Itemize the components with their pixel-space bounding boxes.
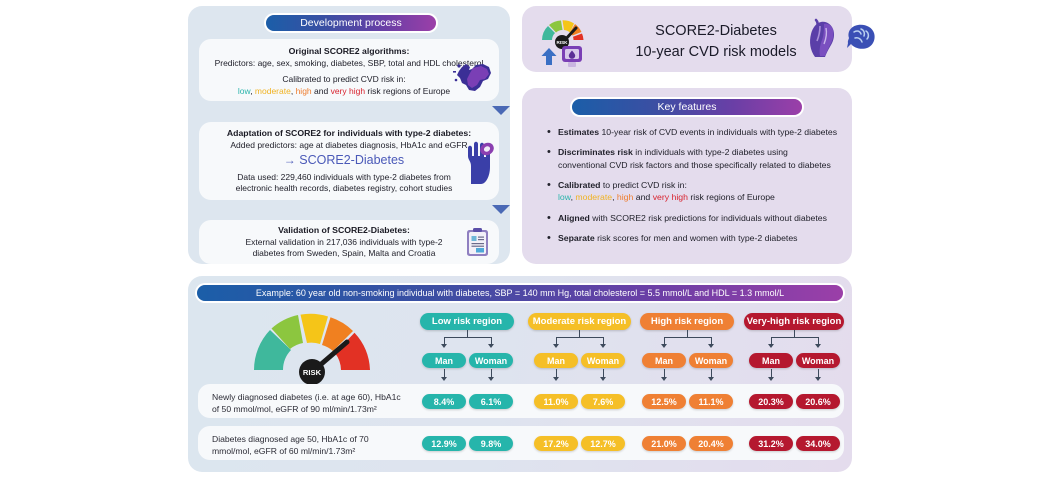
value-r1-low-woman: 6.1% xyxy=(469,394,513,409)
brand-arrow-icon: → xyxy=(284,153,296,167)
feature-3-bold: Calibrated xyxy=(558,180,600,190)
connector-arrow-right xyxy=(708,344,714,348)
step1-risk-regions: low, moderate, high and very high risk r… xyxy=(199,86,489,96)
title-line-2: 10-year CVD risk models xyxy=(626,42,806,63)
step3-line2: External validation in 217,036 individua… xyxy=(199,237,489,247)
region-pill-moderate[interactable]: Moderate risk region xyxy=(528,313,631,330)
title-line-1: SCORE2-Diabetes xyxy=(626,21,806,42)
sep4: risk regions of Europe xyxy=(365,86,450,96)
risk-very-high-text: very high xyxy=(331,86,366,96)
sex-pill-low-woman[interactable]: Woman xyxy=(469,353,513,368)
list-item: Separate risk scores for men and women w… xyxy=(546,232,838,244)
value-r2-high-woman: 20.4% xyxy=(689,436,733,451)
list-item: Estimates 10-year risk of CVD events in … xyxy=(546,126,838,138)
sex-pill-very-high-man[interactable]: Man xyxy=(749,353,793,368)
sex-pill-moderate-man[interactable]: Man xyxy=(534,353,578,368)
row-2-label-line-1: Diabetes diagnosed age 50, HbA1c of 70 xyxy=(212,433,432,445)
step2-brand-line: → SCORE2-Diabetes xyxy=(199,153,489,167)
connector-bar xyxy=(444,337,491,338)
value-r1-high-man: 12.5% xyxy=(642,394,686,409)
step3-line3: diabetes from Sweden, Spain, Malta and C… xyxy=(199,248,489,258)
heart-icon xyxy=(806,18,840,58)
value-r1-very-high-woman: 20.6% xyxy=(796,394,840,409)
connector-stem xyxy=(579,330,580,337)
kf-risk-tail: risk regions of Europe xyxy=(688,192,775,202)
feature-1-rest: 10-year risk of CVD events in individual… xyxy=(599,127,837,137)
row-1-label-line-2: of 50 mmol/mol, eGFR of 90 ml/min/1.73m² xyxy=(212,403,432,415)
step-original-score2-card: Original SCORE2 algorithms: Predictors: … xyxy=(199,39,499,101)
region-pill-low[interactable]: Low risk region xyxy=(420,313,514,330)
connector-arrow-left xyxy=(768,344,774,348)
connector-arrow-left xyxy=(553,344,559,348)
sex-drop-arrow xyxy=(600,377,606,381)
list-item: Aligned with SCORE2 risk predictions for… xyxy=(546,212,838,224)
feature-4-rest: with SCORE2 risk predictions for individ… xyxy=(590,213,827,223)
connector-stem xyxy=(467,330,468,337)
sex-pill-high-woman[interactable]: Woman xyxy=(689,353,733,368)
brain-icon xyxy=(842,22,880,54)
region-pill-very-high[interactable]: Very-high risk region xyxy=(744,313,844,330)
kf-risk-low: low xyxy=(558,192,571,202)
feature-1-bold: Estimates xyxy=(558,127,599,137)
step-validation-card: Validation of SCORE2-Diabetes: External … xyxy=(199,220,499,264)
sex-drop-arrow xyxy=(553,377,559,381)
value-r2-very-high-man: 31.2% xyxy=(749,436,793,451)
sex-pill-low-man[interactable]: Man xyxy=(422,353,466,368)
sex-drop-arrow xyxy=(815,377,821,381)
table-row: Newly diagnosed diabetes (i.e. at age 60… xyxy=(198,384,844,418)
connector-bar xyxy=(771,337,818,338)
sep3: and xyxy=(312,86,331,96)
feature-2-bold: Discriminates risk xyxy=(558,147,633,157)
value-r2-low-woman: 9.8% xyxy=(469,436,513,451)
page-title: SCORE2-Diabetes 10-year CVD risk models xyxy=(626,21,806,63)
list-item: Discriminates risk in individuals with t… xyxy=(546,146,838,171)
value-r2-low-man: 12.9% xyxy=(422,436,466,451)
score2-diabetes-brand: SCORE2-Diabetes xyxy=(299,153,404,167)
infographic-root: Development process Original SCORE2 algo… xyxy=(0,0,1040,478)
risk-moderate-text: moderate xyxy=(255,86,291,96)
feature-5-rest: risk scores for men and women with type-… xyxy=(595,233,798,243)
kf-risk-very-high: very high xyxy=(653,192,688,202)
example-banner: Example: 60 year old non-smoking individ… xyxy=(197,285,843,301)
europe-map-icon xyxy=(453,61,493,95)
risk-low-text: low xyxy=(238,86,250,96)
example-panel: Example: 60 year old non-smoking individ… xyxy=(188,276,852,472)
connector-bar xyxy=(556,337,603,338)
step-adaptation-card: Adaptation of SCORE2 for individuals wit… xyxy=(199,122,499,200)
list-item: Calibrated to predict CVD risk in: low, … xyxy=(546,179,838,204)
feature-3-rest: to predict CVD risk in: xyxy=(600,180,686,190)
sex-pill-moderate-woman[interactable]: Woman xyxy=(581,353,625,368)
development-process-panel: Development process Original SCORE2 algo… xyxy=(188,6,510,264)
step2-data-used-1: Data used: 229,460 individuals with type… xyxy=(199,172,489,182)
row-1-label: Newly diagnosed diabetes (i.e. at age 60… xyxy=(212,391,432,416)
value-r2-moderate-woman: 12.7% xyxy=(581,436,625,451)
sex-drop-arrow xyxy=(708,377,714,381)
feature-4-bold: Aligned xyxy=(558,213,590,223)
feature-5-bold: Separate xyxy=(558,233,595,243)
value-r1-moderate-man: 11.0% xyxy=(534,394,578,409)
arrow-step1-to-step2 xyxy=(492,106,510,115)
value-r1-low-man: 8.4% xyxy=(422,394,466,409)
connector-arrow-left xyxy=(661,344,667,348)
step1-title: Original SCORE2 algorithms: xyxy=(199,46,499,56)
region-pill-high[interactable]: High risk region xyxy=(640,313,734,330)
value-r2-moderate-man: 17.2% xyxy=(534,436,578,451)
sex-pill-very-high-woman[interactable]: Woman xyxy=(796,353,840,368)
kf-risk-high: high xyxy=(617,192,633,202)
key-features-header: Key features xyxy=(572,99,802,115)
kf-risk-moderate: moderate xyxy=(575,192,612,202)
connector-stem xyxy=(687,330,688,337)
risk-high-text: high xyxy=(296,86,312,96)
gauge-risk-label: RISK xyxy=(303,368,322,377)
connector-arrow-right xyxy=(600,344,606,348)
connector-arrow-right xyxy=(815,344,821,348)
title-panel: RISK SCORE2-Diabetes 10-year CVD risk mo… xyxy=(522,6,852,72)
value-r2-very-high-woman: 34.0% xyxy=(796,436,840,451)
example-risk-gauge: RISK xyxy=(250,312,374,388)
step2-added-predictors: Added predictors: age at diabetes diagno… xyxy=(199,140,499,150)
development-process-header: Development process xyxy=(266,15,436,31)
risk-gauge-icon: RISK xyxy=(536,12,598,67)
connector-arrow-right xyxy=(488,344,494,348)
step3-title: Validation of SCORE2-Diabetes: xyxy=(199,225,489,235)
sex-drop-arrow xyxy=(441,377,447,381)
value-r2-high-man: 21.0% xyxy=(642,436,686,451)
key-features-panel: Key features Estimates 10-year risk of C… xyxy=(522,88,852,264)
value-r1-high-woman: 11.1% xyxy=(689,394,733,409)
key-features-list: Estimates 10-year risk of CVD events in … xyxy=(546,126,838,252)
svg-text:RISK: RISK xyxy=(557,40,569,45)
value-r1-moderate-woman: 7.6% xyxy=(581,394,625,409)
step2-title: Adaptation of SCORE2 for individuals wit… xyxy=(199,128,499,138)
sex-drop-arrow xyxy=(661,377,667,381)
clipboard-icon xyxy=(465,227,491,257)
row-1-label-line-1: Newly diagnosed diabetes (i.e. at age 60… xyxy=(212,391,432,403)
arrow-step2-to-step3 xyxy=(492,205,510,214)
step2-data-used-2: electronic health records, diabetes regi… xyxy=(199,183,489,193)
hand-glucose-meter-icon xyxy=(459,140,495,184)
connector-stem xyxy=(794,330,795,337)
value-r1-very-high-man: 20.3% xyxy=(749,394,793,409)
connector-bar xyxy=(664,337,711,338)
step1-calibrated: Calibrated to predict CVD risk in: xyxy=(199,74,489,84)
sex-drop-arrow xyxy=(488,377,494,381)
row-2-label: Diabetes diagnosed age 50, HbA1c of 70 m… xyxy=(212,433,432,458)
row-2-label-line-2: mmol/mol, eGFR of 60 ml/min/1.73m² xyxy=(212,445,432,457)
connector-arrow-left xyxy=(441,344,447,348)
sex-drop-arrow xyxy=(768,377,774,381)
sex-pill-high-man[interactable]: Man xyxy=(642,353,686,368)
table-row: Diabetes diagnosed age 50, HbA1c of 70 m… xyxy=(198,426,844,460)
